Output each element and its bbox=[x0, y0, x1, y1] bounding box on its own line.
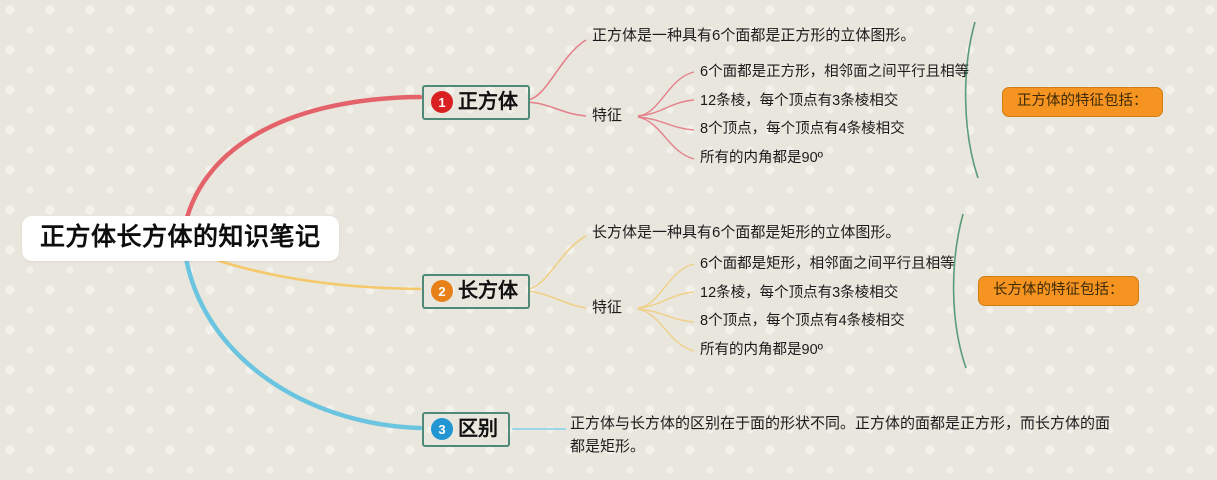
root-title: 正方体长方体的知识笔记 bbox=[40, 223, 321, 252]
branch-2-feature-item: 所有的内角都是90º bbox=[700, 342, 823, 359]
branch-1-feature-item: 6个面都是正方形，相邻面之间平行且相等 bbox=[700, 64, 969, 81]
branch-3-number-badge: 3 bbox=[431, 418, 453, 440]
branch-3-description: 正方体与长方体的区别在于面的形状不同。正方体的面都是正方形，而长方体的面都是矩形… bbox=[570, 412, 1110, 459]
branch-2-label: 长方体 bbox=[458, 280, 518, 302]
branch-2-feature-item: 6个面都是矩形，相邻面之间平行且相等 bbox=[700, 256, 955, 273]
branch-2-feature-item: 12条棱，每个顶点有3条棱相交 bbox=[700, 285, 898, 302]
edge-branch2-to-summary bbox=[528, 236, 586, 289]
branch-2-number-badge: 2 bbox=[431, 280, 453, 302]
branch-1-feature-label: 特征 bbox=[592, 107, 622, 125]
edge-root-to-branch3 bbox=[185, 252, 420, 428]
branch-2-feature-label: 特征 bbox=[592, 299, 622, 317]
branch-1-label: 正方体 bbox=[458, 91, 518, 113]
root-node[interactable]: 正方体长方体的知识笔记 bbox=[22, 216, 339, 261]
edge-branch2-feature-2 bbox=[638, 309, 694, 322]
branch-2-callout-pill[interactable]: 长方体的特征包括： bbox=[978, 276, 1139, 306]
branch-1-callout-pill[interactable]: 正方体的特征包括： bbox=[1002, 87, 1163, 117]
edge-branch2-feature-1 bbox=[638, 292, 694, 308]
bracket-branch2 bbox=[954, 214, 966, 368]
edge-branch1-feature-3 bbox=[638, 117, 694, 159]
branch-1-feature-item: 8个顶点，每个顶点有4条棱相交 bbox=[700, 121, 905, 138]
edge-branch1-feature-1 bbox=[638, 100, 694, 116]
branch-2-feature-item: 8个顶点，每个顶点有4条棱相交 bbox=[700, 313, 905, 330]
mindmap-canvas: 正方体长方体的知识笔记 1 正方体 正方体是一种具有6个面都是正方形的立体图形。… bbox=[0, 0, 1217, 480]
edge-root-to-branch1 bbox=[185, 97, 420, 225]
edge-branch2-feature-3 bbox=[638, 309, 694, 351]
branch-2-summary: 长方体是一种具有6个面都是矩形的立体图形。 bbox=[592, 224, 900, 242]
branch-3-label: 区别 bbox=[458, 418, 498, 440]
edge-branch1-feature-2 bbox=[638, 117, 694, 130]
branch-node-3[interactable]: 3 区别 bbox=[422, 412, 510, 447]
edge-branch2-feature-0 bbox=[638, 264, 694, 308]
branch-1-summary: 正方体是一种具有6个面都是正方形的立体图形。 bbox=[592, 27, 915, 45]
edge-branch1-to-summary bbox=[528, 40, 586, 100]
branch-1-number-badge: 1 bbox=[431, 91, 453, 113]
edge-branch1-feature-0 bbox=[638, 72, 694, 116]
branch-1-feature-item: 所有的内角都是90º bbox=[700, 150, 823, 167]
branch-node-1[interactable]: 1 正方体 bbox=[422, 85, 530, 120]
branch-node-2[interactable]: 2 长方体 bbox=[422, 274, 530, 309]
branch-1-feature-item: 12条棱，每个顶点有3条棱相交 bbox=[700, 93, 898, 110]
edge-branch2-to-featlabel bbox=[528, 291, 586, 308]
edge-branch1-to-featlabel bbox=[528, 102, 586, 116]
bracket-branch1 bbox=[966, 22, 978, 178]
